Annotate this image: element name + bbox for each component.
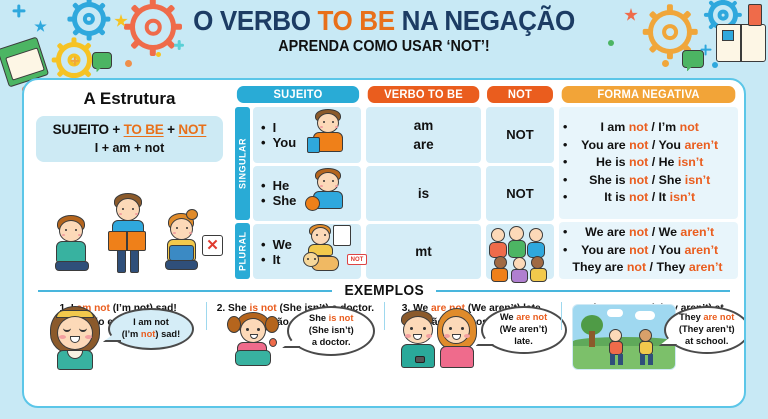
neg-not: not: [629, 190, 648, 204]
examples-section: I am not (I’m not) sad! 1. I am not (I’m…: [24, 300, 744, 334]
subject-cells: I You: [253, 107, 361, 279]
subject-he: He: [261, 178, 361, 193]
subject-i: I: [261, 120, 361, 135]
neg-sep: /: [648, 190, 658, 204]
subject-it: It: [261, 252, 361, 267]
formula-line: SUJEITO + TO BE + NOT: [40, 122, 219, 137]
negative-form-column: •I am not / I’m not •You are not / You a…: [559, 107, 738, 279]
column-header-forma: FORMA NEGATIVA: [562, 86, 736, 103]
formula-example: I + am + not: [40, 141, 219, 155]
divider-right: [436, 290, 730, 292]
neg-sep: /: [648, 120, 658, 134]
kid-body: [511, 269, 528, 283]
speech-bubble-3: We are not (We aren’t) late.: [481, 306, 567, 354]
speech-bubble-4: They are not (They aren’t) at school.: [664, 306, 746, 354]
conjugation-table: SUJEITO VERBO TO BE NOT FORMA NEGATIVA S…: [235, 80, 744, 279]
bubble-line-3: late.: [514, 336, 533, 348]
neg-contraction: isn’t: [670, 190, 695, 204]
table-row-subject-2: He She: [253, 166, 361, 222]
kid-body: [491, 268, 508, 282]
bubble-l1-not: are not: [703, 312, 734, 322]
kid-leg: [648, 354, 653, 365]
dot-decoration: [712, 62, 718, 68]
example-item-4: They are not (They aren’t) at school. 4.…: [561, 302, 738, 330]
kid-head: [509, 226, 524, 241]
page-title: O VERBO TO BE NA NEGAÇÃO: [27, 6, 741, 35]
negative-form-row: •I am not / I’m not: [563, 119, 732, 137]
neg-post: You: [659, 243, 685, 257]
neg-sep: /: [648, 138, 658, 152]
kid-body: [609, 341, 623, 355]
speech-bubble-2: She is not (She isn’t) a doctor.: [287, 306, 375, 356]
main-card: A Estrutura SUJEITO + TO BE + NOT I + am…: [22, 78, 746, 408]
neg-pre: It is: [604, 190, 629, 204]
verb-cell-1: am are: [366, 107, 481, 163]
neg-sep: /: [648, 243, 658, 257]
neg-pre: We are: [585, 225, 629, 239]
column-header-not: NOT: [487, 86, 553, 103]
formula-plus-1: +: [109, 122, 124, 137]
verb-am: am: [414, 118, 434, 133]
book-spine: [126, 231, 128, 251]
structure-panel: A Estrutura SUJEITO + TO BE + NOT I + am…: [24, 80, 235, 279]
bubble-l2-post: ) sad!: [155, 329, 180, 339]
formula-tobe: TO BE: [124, 122, 164, 137]
negative-form-row: •You are not / You aren’t: [563, 137, 732, 155]
child-standing-with-book: [104, 193, 152, 277]
neg-not: not: [629, 120, 648, 134]
neg-pre: I am: [600, 120, 628, 134]
neg-post: You: [659, 138, 685, 152]
neg-not: not: [629, 173, 648, 187]
top-section: A Estrutura SUJEITO + TO BE + NOT I + am…: [24, 80, 744, 279]
bullet: •: [563, 242, 567, 260]
negative-form-row: They are not / They aren’t: [563, 259, 732, 277]
negative-form-row: •You are not / You aren’t: [563, 242, 732, 260]
red-x-icon: ✕: [202, 235, 223, 256]
bubble-l2-not: not: [141, 329, 155, 339]
verb-column: am are is mt: [366, 107, 481, 279]
neg-post: We: [659, 225, 681, 239]
kid-body: [508, 240, 526, 258]
kid-leg: [610, 354, 615, 365]
bubble-l1-not: is not: [329, 313, 354, 323]
girl-sitting-illustration: [225, 312, 285, 368]
cloud: [635, 311, 655, 320]
bubble-line-2: (We aren’t): [500, 324, 548, 336]
neg-contraction: isn’t: [685, 173, 710, 187]
neg-pre: She is: [589, 173, 629, 187]
neg-post: They: [656, 260, 688, 274]
neg-contraction: not: [680, 120, 699, 134]
watch-icon: [415, 356, 425, 363]
negative-form-row: •She is not / She isn’t: [563, 172, 732, 190]
verb-cell-3: mt: [366, 224, 481, 279]
bubble-l2-pre: (I’m: [122, 329, 141, 339]
neg-sep: /: [648, 225, 658, 239]
bubble-line-1: They are not: [679, 312, 734, 324]
neg-sep: /: [648, 155, 658, 169]
label-singular: SINGULAR: [235, 107, 250, 220]
bullet: •: [563, 172, 567, 190]
bubble-line-1: We are not: [500, 312, 547, 324]
bullet: •: [563, 224, 567, 242]
bubble-line-1: I am not: [133, 317, 169, 329]
toy-icon: [269, 338, 277, 347]
speech-bubble-1: I am not (I’m not) sad!: [108, 308, 194, 350]
kids-illustration: ✕: [32, 191, 227, 279]
bubble-line-2: (They aren’t): [679, 324, 735, 336]
example-item-1: I am not (I’m not) sad! 1. I am not (I’m…: [30, 302, 206, 330]
mouth-smile: [452, 334, 461, 340]
girl-pink-illustration: [433, 308, 481, 368]
example-item-3: We are not (We aren’t) late. 3. We are n…: [384, 302, 561, 330]
sparkle-icon: [70, 56, 79, 65]
bubble-l1-pre: They: [679, 312, 703, 322]
number-labels: SINGULAR PLURAL: [235, 107, 250, 279]
bullet: •: [563, 119, 567, 137]
table-body: SINGULAR PLURAL I You: [235, 107, 738, 279]
bubble-l1-not: are not: [516, 312, 547, 322]
neg-not: not: [629, 243, 648, 257]
kid-leg: [618, 354, 623, 365]
subject-she: She: [261, 193, 361, 208]
table-header-row: SUJEITO VERBO TO BE NOT FORMA NEGATIVA: [235, 86, 738, 103]
pigtail: [265, 316, 279, 333]
formula-not: NOT: [178, 122, 206, 137]
not-column: NOT NOT: [486, 107, 554, 279]
not-cell-1: NOT: [486, 107, 554, 163]
formula-plus-2: +: [164, 122, 179, 137]
bullet: •: [563, 154, 567, 172]
bubble-line-2: (She isn’t): [309, 325, 354, 337]
bubble-line-2: (I’m not) sad!: [122, 329, 180, 341]
bullet: •: [563, 189, 567, 207]
examples-heading: EXEMPLOS: [344, 282, 424, 299]
title-part1: O VERBO: [193, 5, 317, 36]
dot-decoration: [662, 60, 669, 67]
neg-not: not: [629, 155, 648, 169]
negative-cells-plural: •We are not / We aren’t •You are not / Y…: [559, 222, 738, 279]
verb-are: are: [413, 137, 433, 152]
girl-happy-illustration: [48, 306, 106, 368]
examples-heading-row: EXEMPLOS: [24, 281, 744, 300]
negative-form-row: •We are not / We aren’t: [563, 224, 732, 242]
formula-box: SUJEITO + TO BE + NOT I + am + not: [36, 116, 223, 162]
negative-cells-singular: •I am not / I’m not •You are not / You a…: [559, 107, 738, 219]
mouth-smile: [413, 334, 422, 340]
bubble-line-3: a doctor.: [312, 337, 351, 349]
example-item-2: She is not (She isn’t) a doctor. 2. She …: [206, 302, 383, 330]
neg-pre: You are: [581, 138, 629, 152]
child-sitting-right: [160, 213, 204, 275]
tree-trunk: [589, 331, 595, 347]
label-plural: PLURAL: [235, 223, 250, 279]
table-row-subject-1: I You: [253, 107, 361, 163]
divider-left: [38, 290, 332, 292]
neg-pre: They are: [572, 260, 626, 274]
verb-cell-2: is: [366, 166, 481, 222]
neg-contraction: aren’t: [684, 138, 718, 152]
hair-bun: [186, 209, 198, 220]
kid-head: [529, 228, 543, 242]
overalls: [235, 350, 271, 366]
neg-contraction: aren’t: [680, 225, 714, 239]
neg-post: It: [659, 190, 670, 204]
neg-pre: You are: [581, 243, 629, 257]
bubble-line-3: at school.: [685, 336, 728, 348]
subject-you: You: [261, 135, 361, 150]
neg-not: not: [627, 260, 646, 274]
kid-body: [530, 268, 547, 282]
neg-sep: /: [646, 260, 656, 274]
page-subtitle: APRENDA COMO USAR ‘NOT’!: [38, 38, 729, 56]
verb-mt: mt: [415, 244, 432, 259]
column-header-verbo: VERBO TO BE: [368, 86, 480, 103]
subject-column-group: SINGULAR PLURAL I You: [235, 107, 361, 279]
neg-post: He: [659, 155, 678, 169]
park-scene-illustration: [572, 304, 676, 370]
neg-contraction: aren’t: [684, 243, 718, 257]
overalls: [169, 245, 194, 261]
kid-body: [639, 341, 653, 355]
neg-not: not: [629, 138, 648, 152]
dot-decoration: [125, 60, 132, 67]
header: O VERBO TO BE NA NEGAÇÃO APRENDA COMO US…: [0, 6, 768, 56]
bubble-line-1: She is not: [309, 313, 353, 325]
neg-contraction: isn’t: [678, 155, 703, 169]
neg-not: not: [629, 225, 648, 239]
title-part2: NA NEGAÇÃO: [395, 5, 575, 36]
negative-form-row: •He is not / He isn’t: [563, 154, 732, 172]
neg-pre: He is: [596, 155, 629, 169]
kid-head: [491, 228, 505, 242]
negative-form-row: •It is not / It isn’t: [563, 189, 732, 207]
table-row-subject-3: We It: [253, 224, 361, 279]
structure-heading: A Estrutura: [32, 89, 227, 109]
not-cell-2: NOT: [486, 166, 554, 222]
bubble-l1-pre: She: [309, 313, 329, 323]
neg-post: She: [659, 173, 685, 187]
column-header-sujeito: SUJEITO: [237, 86, 359, 103]
title-highlight: TO BE: [317, 5, 394, 36]
bullet: •: [563, 137, 567, 155]
neg-contraction: aren’t: [689, 260, 723, 274]
verb-is: is: [418, 186, 429, 201]
bubble-l1-pre: We: [500, 312, 516, 322]
group-of-kids-illustration: [486, 224, 554, 279]
cloud: [607, 309, 623, 317]
neg-post: I’m: [658, 120, 679, 134]
formula-subject: SUJEITO: [53, 122, 109, 137]
subject-we: We: [261, 237, 361, 252]
child-sitting-left: [50, 215, 94, 275]
kid-leg: [640, 354, 645, 365]
neg-sep: /: [648, 173, 658, 187]
not-cell-3: [486, 224, 554, 279]
